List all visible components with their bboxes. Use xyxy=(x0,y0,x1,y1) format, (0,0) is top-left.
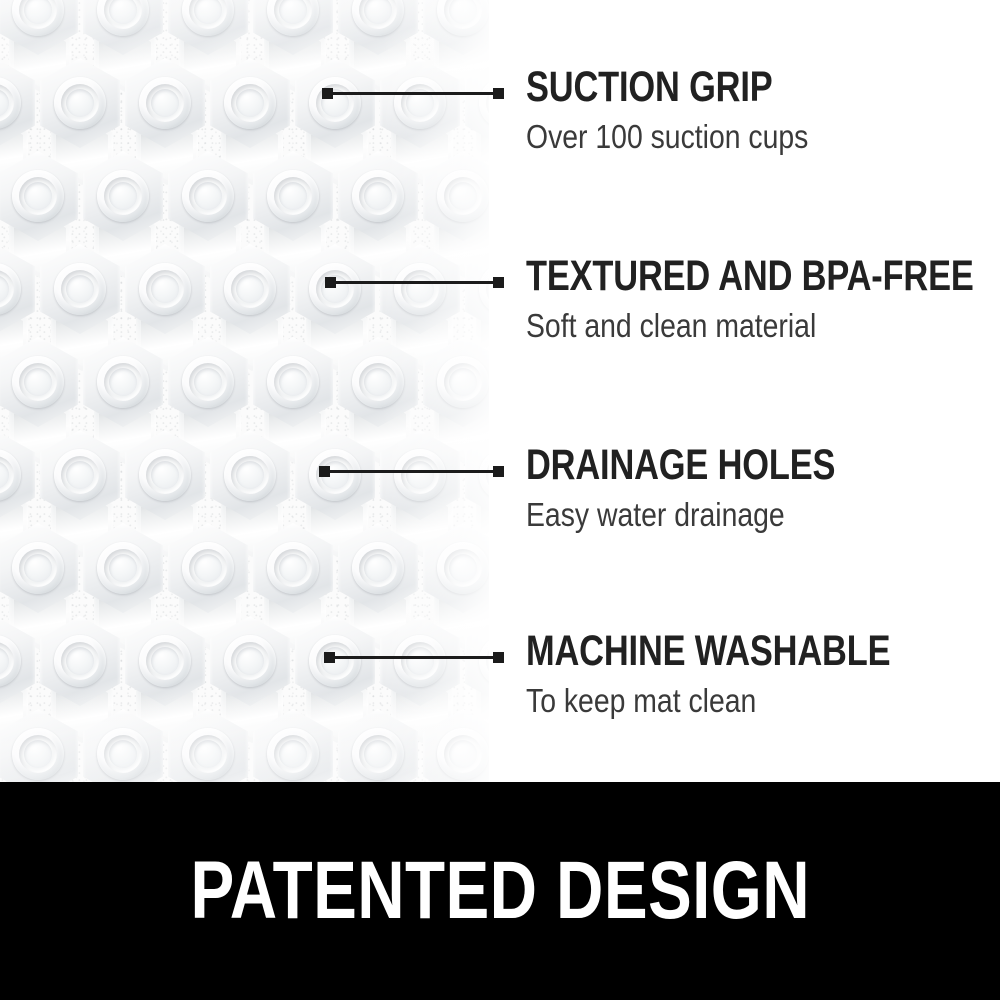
suction-cup xyxy=(125,244,205,334)
suction-cup-dish xyxy=(24,740,52,768)
suction-cup-dish xyxy=(364,740,392,768)
leader-start-marker xyxy=(322,88,333,99)
suction-cup xyxy=(125,58,205,148)
suction-cup xyxy=(125,616,205,706)
leader-line xyxy=(325,92,500,95)
suction-cup xyxy=(338,151,418,241)
suction-cup-dish xyxy=(66,647,94,675)
suction-cup xyxy=(210,430,290,520)
suction-cup xyxy=(423,523,489,613)
suction-cup-dish xyxy=(24,368,52,396)
suction-cup-dish xyxy=(364,554,392,582)
leader-end-marker xyxy=(493,466,504,477)
suction-cup xyxy=(0,151,78,241)
suction-cup xyxy=(0,244,35,334)
suction-cup-dish xyxy=(66,89,94,117)
suction-cup-dish xyxy=(406,461,434,489)
product-feature-infographic: SUCTION GRIPOver 100 suction cupsTEXTURE… xyxy=(0,0,1000,1000)
suction-cup xyxy=(83,337,163,427)
patented-design-banner: PATENTED DESIGN xyxy=(0,782,1000,1000)
suction-cup xyxy=(125,430,205,520)
suction-cup xyxy=(0,523,78,613)
suction-cup xyxy=(295,430,375,520)
suction-cup-dish xyxy=(364,368,392,396)
suction-cup-dish xyxy=(449,182,477,210)
banner-title: PATENTED DESIGN xyxy=(190,850,810,932)
suction-cup xyxy=(0,709,78,782)
suction-cup xyxy=(210,58,290,148)
suction-cup-dish xyxy=(406,647,434,675)
suction-cup-dish xyxy=(449,740,477,768)
suction-cup xyxy=(380,58,460,148)
suction-cup xyxy=(83,709,163,782)
suction-cup-dish xyxy=(236,647,264,675)
suction-cup xyxy=(295,58,375,148)
suction-cup xyxy=(380,244,460,334)
leader-line xyxy=(327,656,500,659)
callout-title: TEXTURED AND BPA-FREE xyxy=(526,255,902,298)
callout-text-block: DRAINAGE HOLESEasy water drainage xyxy=(526,444,996,533)
callout-subtitle: Soft and clean material xyxy=(526,309,930,344)
suction-cup xyxy=(465,430,489,520)
suction-cup xyxy=(210,616,290,706)
suction-cup xyxy=(40,58,120,148)
callout-text-block: MACHINE WASHABLETo keep mat clean xyxy=(526,630,996,719)
leader-start-marker xyxy=(319,466,330,477)
callout-text-block: TEXTURED AND BPA-FREESoft and clean mate… xyxy=(526,255,996,344)
suction-cup-dish xyxy=(66,461,94,489)
suction-cup xyxy=(168,337,248,427)
suction-cup xyxy=(253,709,333,782)
suction-cup xyxy=(253,0,333,55)
suction-cup xyxy=(40,244,120,334)
suction-cup xyxy=(0,616,35,706)
suction-cup-dish xyxy=(109,368,137,396)
callout-title: DRAINAGE HOLES xyxy=(526,444,902,487)
suction-cup xyxy=(0,337,78,427)
leader-start-marker xyxy=(325,277,336,288)
suction-cup xyxy=(338,337,418,427)
suction-cup xyxy=(168,151,248,241)
suction-cup-dish xyxy=(66,275,94,303)
suction-cup xyxy=(253,337,333,427)
suction-cup-dish xyxy=(449,554,477,582)
suction-cup xyxy=(83,523,163,613)
suction-cup-dish xyxy=(109,740,137,768)
suction-cup xyxy=(380,616,460,706)
suction-cup-dish xyxy=(24,182,52,210)
suction-cup-dish xyxy=(151,647,179,675)
suction-cup xyxy=(423,0,489,55)
suction-cup-dish xyxy=(151,89,179,117)
suction-cup xyxy=(210,244,290,334)
leader-line xyxy=(328,281,500,284)
suction-cup xyxy=(0,0,78,55)
callout-subtitle: To keep mat clean xyxy=(526,684,930,719)
suction-cup-dish xyxy=(279,740,307,768)
suction-cup-dish xyxy=(236,275,264,303)
suction-cup xyxy=(423,709,489,782)
leader-start-marker xyxy=(324,652,335,663)
suction-cup-dish xyxy=(364,182,392,210)
suction-cup xyxy=(40,430,120,520)
suction-cup xyxy=(295,616,375,706)
suction-cup-dish xyxy=(151,461,179,489)
callout-title: SUCTION GRIP xyxy=(526,66,902,109)
suction-cup-dish xyxy=(449,368,477,396)
suction-cup-dish xyxy=(279,554,307,582)
leader-end-marker xyxy=(493,277,504,288)
suction-cup xyxy=(423,337,489,427)
suction-cup xyxy=(338,709,418,782)
mat-suction-cup-layer xyxy=(0,0,489,782)
suction-cup-dish xyxy=(236,461,264,489)
callout-text-block: SUCTION GRIPOver 100 suction cups xyxy=(526,66,996,155)
suction-cup xyxy=(465,244,489,334)
product-photo xyxy=(0,0,489,782)
suction-cup xyxy=(465,616,489,706)
suction-cup-dish xyxy=(194,740,222,768)
callout-subtitle: Easy water drainage xyxy=(526,498,930,533)
suction-cup xyxy=(295,244,375,334)
suction-cup xyxy=(465,58,489,148)
leader-line xyxy=(322,470,500,473)
suction-cup xyxy=(338,0,418,55)
suction-cup xyxy=(40,616,120,706)
suction-cup-dish xyxy=(279,182,307,210)
suction-cup xyxy=(338,523,418,613)
suction-cup-dish xyxy=(151,275,179,303)
suction-cup-dish xyxy=(279,368,307,396)
suction-cup xyxy=(83,151,163,241)
suction-cup xyxy=(168,523,248,613)
suction-cup xyxy=(0,58,35,148)
leader-end-marker xyxy=(493,652,504,663)
suction-cup xyxy=(253,151,333,241)
suction-cup xyxy=(168,0,248,55)
suction-cup-dish xyxy=(194,554,222,582)
suction-cup-dish xyxy=(24,554,52,582)
suction-cup-dish xyxy=(109,554,137,582)
suction-cup xyxy=(253,523,333,613)
suction-cup xyxy=(0,430,35,520)
suction-cup xyxy=(423,151,489,241)
suction-cup xyxy=(83,0,163,55)
suction-cup-dish xyxy=(236,89,264,117)
suction-cup-dish xyxy=(194,368,222,396)
suction-cup-dish xyxy=(406,275,434,303)
suction-cup-dish xyxy=(194,182,222,210)
suction-cup xyxy=(380,430,460,520)
callout-title: MACHINE WASHABLE xyxy=(526,630,902,673)
leader-end-marker xyxy=(493,88,504,99)
callout-subtitle: Over 100 suction cups xyxy=(526,120,930,155)
suction-cup-dish xyxy=(109,182,137,210)
suction-cup xyxy=(168,709,248,782)
